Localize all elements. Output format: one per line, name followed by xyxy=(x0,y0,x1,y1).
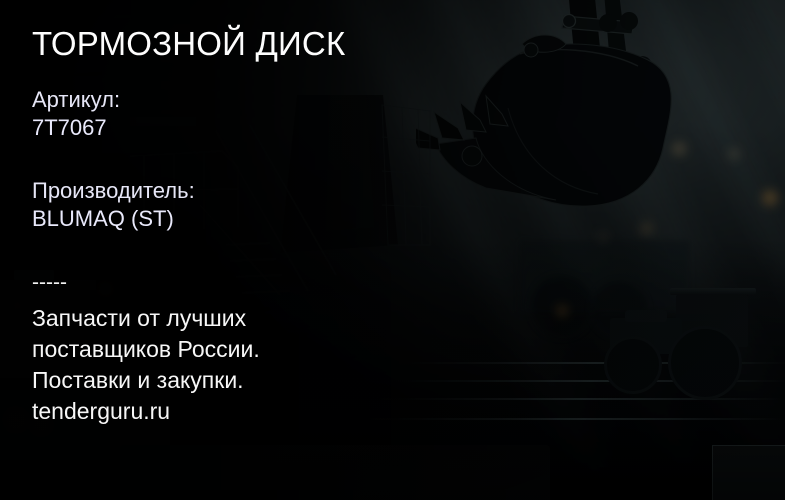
page-title: ТОРМОЗНОЙ ДИСК xyxy=(32,25,345,63)
site-url: tenderguru.ru xyxy=(32,396,260,427)
field-article-label: Артикул: xyxy=(32,86,120,114)
field-article: Артикул: 7T7067 xyxy=(32,86,120,142)
field-manufacturer-label: Производитель: xyxy=(32,177,195,205)
banner-content: ТОРМОЗНОЙ ДИСК Артикул: 7T7067 Производи… xyxy=(32,0,452,500)
product-banner: ТОРМОЗНОЙ ДИСК Артикул: 7T7067 Производи… xyxy=(0,0,785,500)
field-manufacturer: Производитель: BLUMAQ (ST) xyxy=(32,177,195,233)
field-article-value: 7T7067 xyxy=(32,114,120,142)
field-manufacturer-value: BLUMAQ (ST) xyxy=(32,205,195,233)
promo-lines: Запчасти от лучших поставщиков России. П… xyxy=(32,305,260,393)
promo-text: Запчасти от лучших поставщиков России. П… xyxy=(32,303,260,427)
divider: ----- xyxy=(32,272,67,293)
